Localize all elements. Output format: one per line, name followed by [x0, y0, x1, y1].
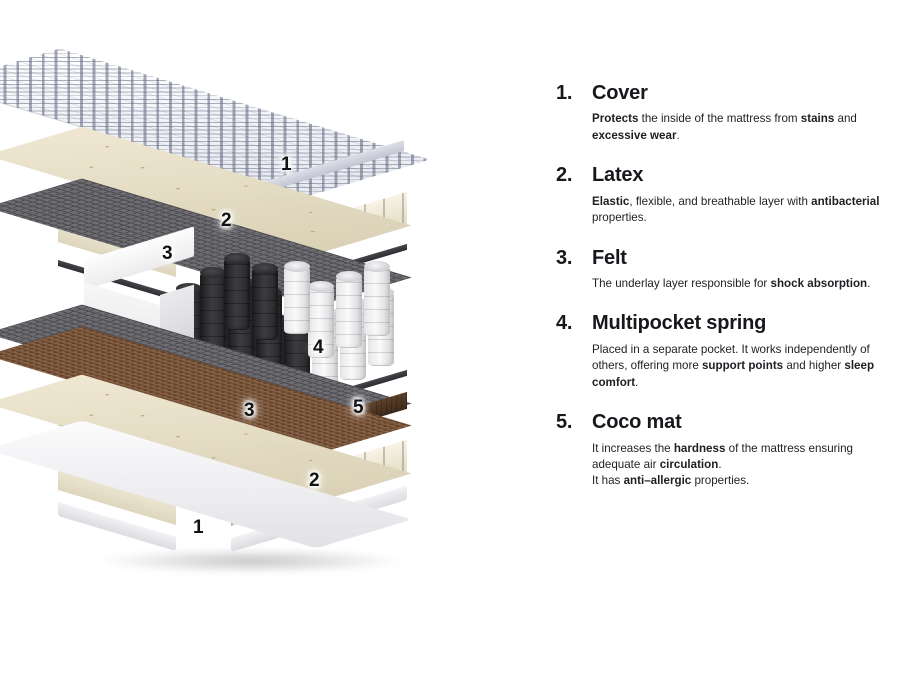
- pocket-spring-dark: [252, 268, 278, 340]
- spring-cap: [364, 261, 390, 272]
- legend-item-felt: 3.FeltThe underlay layer responsible for…: [556, 247, 886, 293]
- pocket-spring-light: [336, 276, 362, 348]
- spring-cap: [336, 271, 362, 282]
- callout-cover-top: 1: [281, 155, 292, 174]
- infographic-page: 12343521 1.CoverProtects the inside of t…: [0, 0, 900, 675]
- legend-item-number: 4.: [556, 312, 592, 334]
- callout-cover-bot: 1: [193, 518, 204, 537]
- legend-item-coco-mat: 5.Coco matIt increases the hardness of t…: [556, 411, 886, 490]
- pocket-spring-light: [284, 266, 310, 334]
- legend-item-body: Coco matIt increases the hardness of the…: [592, 411, 886, 490]
- spring-cap: [200, 267, 226, 278]
- legend-item-title: Cover: [592, 82, 886, 104]
- exploded-mattress-diagram: 12343521: [0, 0, 500, 675]
- legend-item-number: 2.: [556, 164, 592, 186]
- legend-item-body: CoverProtects the inside of the mattress…: [592, 82, 886, 144]
- spring-cap: [224, 253, 250, 264]
- legend-item-title: Latex: [592, 164, 886, 186]
- legend-item-description: It increases the hardness of the mattres…: [592, 441, 886, 490]
- legend-item-number: 1.: [556, 82, 592, 104]
- legend-item-description: Placed in a separate pocket. It works in…: [592, 342, 886, 391]
- legend-item-body: LatexElastic, flexible, and breathable l…: [592, 164, 886, 226]
- legend-item-title: Coco mat: [592, 411, 886, 433]
- legend-item-title: Felt: [592, 247, 886, 269]
- spring-cap: [252, 263, 278, 274]
- callout-coco: 5: [353, 398, 364, 417]
- pocket-spring-dark: [200, 272, 226, 350]
- pocket-spring-light: [364, 266, 390, 336]
- spring-cap: [308, 281, 334, 292]
- layer-legend-list: 1.CoverProtects the inside of the mattre…: [556, 82, 886, 510]
- legend-item-number: 3.: [556, 247, 592, 269]
- legend-item-number: 5.: [556, 411, 592, 433]
- mattress-drop-shadow: [96, 548, 406, 574]
- callout-latex-top: 2: [221, 211, 232, 230]
- legend-item-body: Multipocket springPlaced in a separate p…: [592, 312, 886, 391]
- legend-item-cover: 1.CoverProtects the inside of the mattre…: [556, 82, 886, 144]
- legend-item-multipocket-spring: 4.Multipocket springPlaced in a separate…: [556, 312, 886, 391]
- legend-item-body: FeltThe underlay layer responsible for s…: [592, 247, 886, 293]
- callout-latex-bot: 2: [309, 471, 320, 490]
- legend-item-description: Elastic, flexible, and breathable layer …: [592, 194, 886, 227]
- legend-item-description: Protects the inside of the mattress from…: [592, 111, 886, 144]
- legend-item-title: Multipocket spring: [592, 312, 886, 334]
- legend-item-description: The underlay layer responsible for shock…: [592, 276, 886, 292]
- callout-spring: 4: [313, 338, 324, 357]
- legend-item-latex: 2.LatexElastic, flexible, and breathable…: [556, 164, 886, 226]
- callout-felt-top: 3: [162, 244, 173, 263]
- callout-felt-bot: 3: [244, 401, 255, 420]
- spring-cap: [284, 261, 310, 272]
- pocket-spring-dark: [224, 258, 250, 330]
